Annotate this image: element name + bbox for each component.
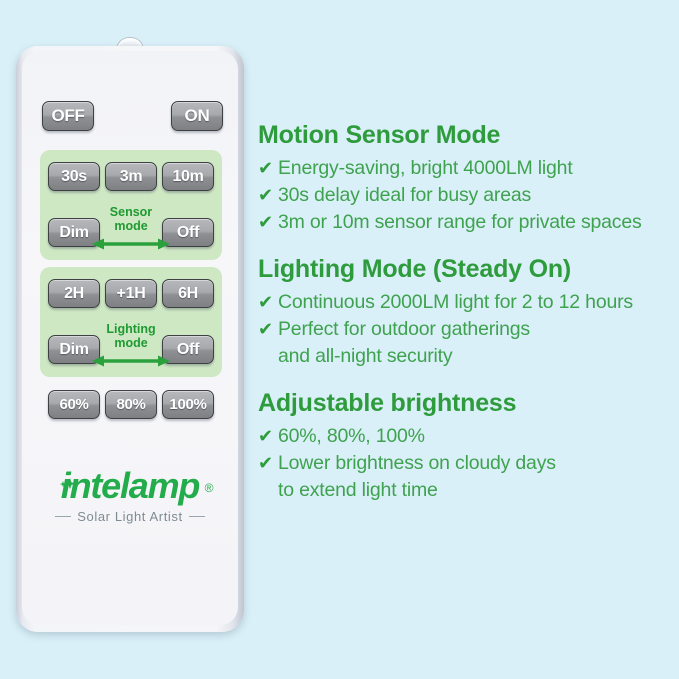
registered-trademark-icon: ® (205, 468, 213, 508)
brightness-100-button[interactable]: 100% (162, 390, 214, 419)
remote-control: OFF ON 30s 3m 10m Dim Off Sensor mode (16, 46, 244, 636)
remote-faceplate: OFF ON 30s 3m 10m Dim Off Sensor mode (22, 51, 238, 625)
feature-bullet: ✔ Continuous 2000LM light for 2 to 12 ho… (258, 289, 676, 316)
check-icon: ✔ (258, 316, 275, 343)
feature-bullet: ✔ 3m or 10m sensor range for private spa… (258, 209, 676, 236)
brand-logo: intelamp ® Solar Light Artist (22, 466, 238, 524)
brand-tagline: Solar Light Artist (22, 509, 238, 524)
feature-text: and all-night security (278, 343, 452, 370)
lighting-mode-label-line2: mode (114, 336, 147, 350)
feature-text: Lower brightness on cloudy days (278, 450, 556, 477)
feature-bullet: ✔ Perfect for outdoor gatherings (258, 316, 676, 343)
check-icon: ✔ (258, 182, 275, 209)
section-adjustable-brightness: Adjustable brightness ✔ 60%, 80%, 100% ✔… (258, 386, 676, 504)
feature-bullet-continuation: ✔ to extend light time (258, 477, 676, 504)
section-title: Motion Sensor Mode (258, 118, 676, 152)
on-button[interactable]: ON (171, 101, 223, 131)
sensor-mode-range-arrow (92, 238, 170, 250)
lighting-mode-range-arrow (92, 355, 170, 367)
sensor-range-10m-button[interactable]: 10m (162, 162, 214, 191)
sensor-mode-panel: 30s 3m 10m Dim Off Sensor mode (40, 150, 222, 260)
brightness-60-button[interactable]: 60% (48, 390, 100, 419)
section-motion-sensor-mode: Motion Sensor Mode ✔ Energy-saving, brig… (258, 118, 676, 236)
tagline-dash-left (55, 516, 71, 518)
check-icon: ✔ (258, 450, 275, 477)
section-title: Lighting Mode (Steady On) (258, 252, 676, 286)
feature-text: 60%, 80%, 100% (278, 423, 425, 450)
sensor-mode-label: Sensor mode (89, 206, 173, 233)
sensor-range-3m-button[interactable]: 3m (105, 162, 157, 191)
tagline-dash-right (189, 516, 205, 518)
lighting-mode-label: Lighting mode (89, 323, 173, 350)
feature-text: Energy-saving, bright 4000LM light (278, 155, 573, 182)
section-title: Adjustable brightness (258, 386, 676, 420)
feature-list: Motion Sensor Mode ✔ Energy-saving, brig… (258, 118, 676, 520)
check-icon: ✔ (258, 423, 275, 450)
sensor-mode-label-line2: mode (114, 219, 147, 233)
brightness-80-button[interactable]: 80% (105, 390, 157, 419)
feature-text: Continuous 2000LM light for 2 to 12 hour… (278, 289, 633, 316)
lighting-plus-1h-button[interactable]: +1H (105, 279, 157, 308)
lighting-mode-panel: 2H +1H 6H Dim Off Lighting mode (40, 267, 222, 377)
feature-bullet: ✔ Lower brightness on cloudy days (258, 450, 676, 477)
feature-text: to extend light time (278, 477, 438, 504)
feature-bullet: ✔ 60%, 80%, 100% (258, 423, 676, 450)
feature-bullet: ✔ 30s delay ideal for busy areas (258, 182, 676, 209)
brand-tagline-text: Solar Light Artist (77, 509, 182, 524)
section-lighting-mode: Lighting Mode (Steady On) ✔ Continuous 2… (258, 252, 676, 370)
check-icon: ✔ (258, 155, 275, 182)
feature-bullet: ✔ Energy-saving, bright 4000LM light (258, 155, 676, 182)
sensor-mode-label-line1: Sensor (110, 205, 152, 219)
feature-text: 30s delay ideal for busy areas (278, 182, 531, 209)
check-icon: ✔ (258, 289, 275, 316)
lighting-mode-label-line1: Lighting (106, 322, 155, 336)
remote-body: OFF ON 30s 3m 10m Dim Off Sensor mode (16, 46, 244, 632)
lighting-2h-button[interactable]: 2H (48, 279, 100, 308)
sensor-delay-30s-button[interactable]: 30s (48, 162, 100, 191)
feature-bullet-continuation: ✔ and all-night security (258, 343, 676, 370)
sparkle-icon (59, 462, 81, 478)
brand-name-text: intelamp (61, 465, 199, 506)
lighting-6h-button[interactable]: 6H (162, 279, 214, 308)
feature-text: Perfect for outdoor gatherings (278, 316, 530, 343)
off-button[interactable]: OFF (42, 101, 94, 131)
brand-name: intelamp ® (61, 466, 199, 506)
check-icon: ✔ (258, 209, 275, 236)
feature-text: 3m or 10m sensor range for private space… (278, 209, 642, 236)
